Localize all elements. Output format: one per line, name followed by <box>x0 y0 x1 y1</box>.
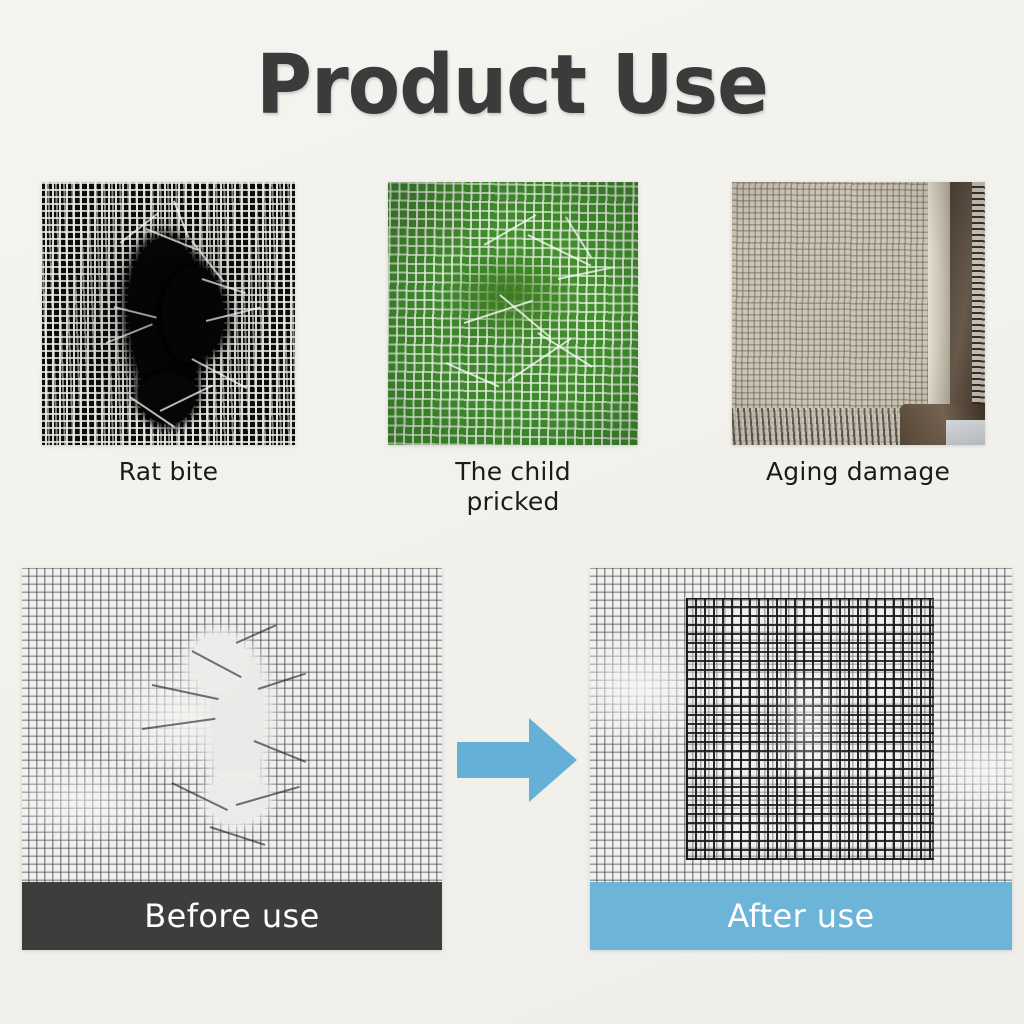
damage-image-aging <box>732 182 985 445</box>
caption-aging-damage: Aging damage <box>728 457 988 487</box>
caption-line-1: The child <box>388 457 638 487</box>
mesh-torn-opening <box>388 182 638 445</box>
label-after-use: After use <box>590 882 1012 950</box>
comparison-panel-before: Before use <box>22 568 442 950</box>
caption-rat-bite: Rat bite <box>42 457 295 487</box>
after-photo <box>590 568 1012 882</box>
arrow-right-icon <box>455 712 579 808</box>
caption-child-pricked: The child pricked <box>388 457 638 517</box>
comparison-panel-after: After use <box>590 568 1012 950</box>
before-photo <box>22 568 442 882</box>
damage-image-child-pricked <box>388 182 638 445</box>
page-title: Product Use <box>36 44 988 128</box>
highlight-patch <box>946 420 985 445</box>
patch-tear-underneath <box>766 664 846 784</box>
product-use-infographic: Product Use <box>0 0 1024 1024</box>
tear-opening-upper <box>190 634 242 688</box>
caption-line-2: pricked <box>388 487 638 517</box>
tear-hole-lobe <box>162 266 224 362</box>
damage-image-rat-bite <box>42 182 295 445</box>
peeling-mesh-bottom <box>732 408 928 445</box>
label-before-use: Before use <box>22 882 442 950</box>
